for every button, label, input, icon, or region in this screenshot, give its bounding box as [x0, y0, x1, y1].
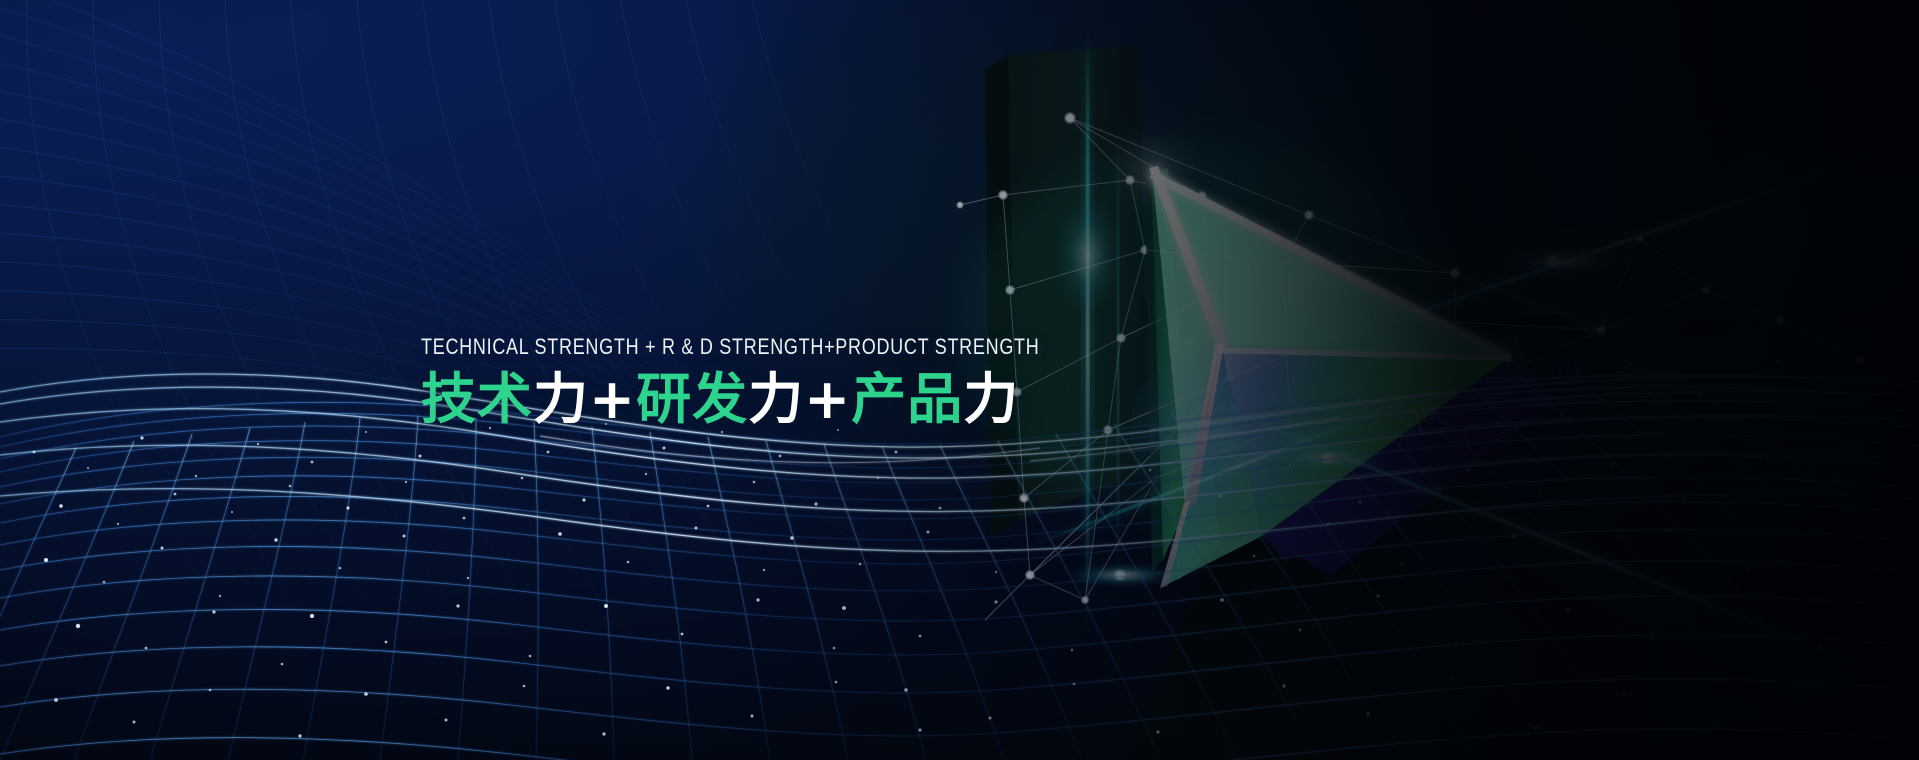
- title-segment-6: +: [804, 367, 851, 431]
- title-segment-3: +: [589, 367, 636, 431]
- title-segment-2: 力: [533, 367, 589, 431]
- eyebrow-text: TECHNICAL STRENGTH + R & D STRENGTH+PROD…: [421, 336, 1040, 359]
- title-segment-8: 力: [963, 367, 1019, 431]
- page-title: 技术力+研发力+产品力: [421, 371, 1194, 429]
- headline-block: TECHNICAL STRENGTH + R & D STRENGTH+PROD…: [421, 336, 1194, 428]
- title-segment-1: 技术: [421, 367, 533, 431]
- title-segment-7: 产品: [851, 367, 963, 431]
- hero-banner: TECHNICAL STRENGTH + R & D STRENGTH+PROD…: [0, 0, 1919, 760]
- title-segment-5: 力: [748, 367, 804, 431]
- title-segment-4: 研发: [636, 367, 748, 431]
